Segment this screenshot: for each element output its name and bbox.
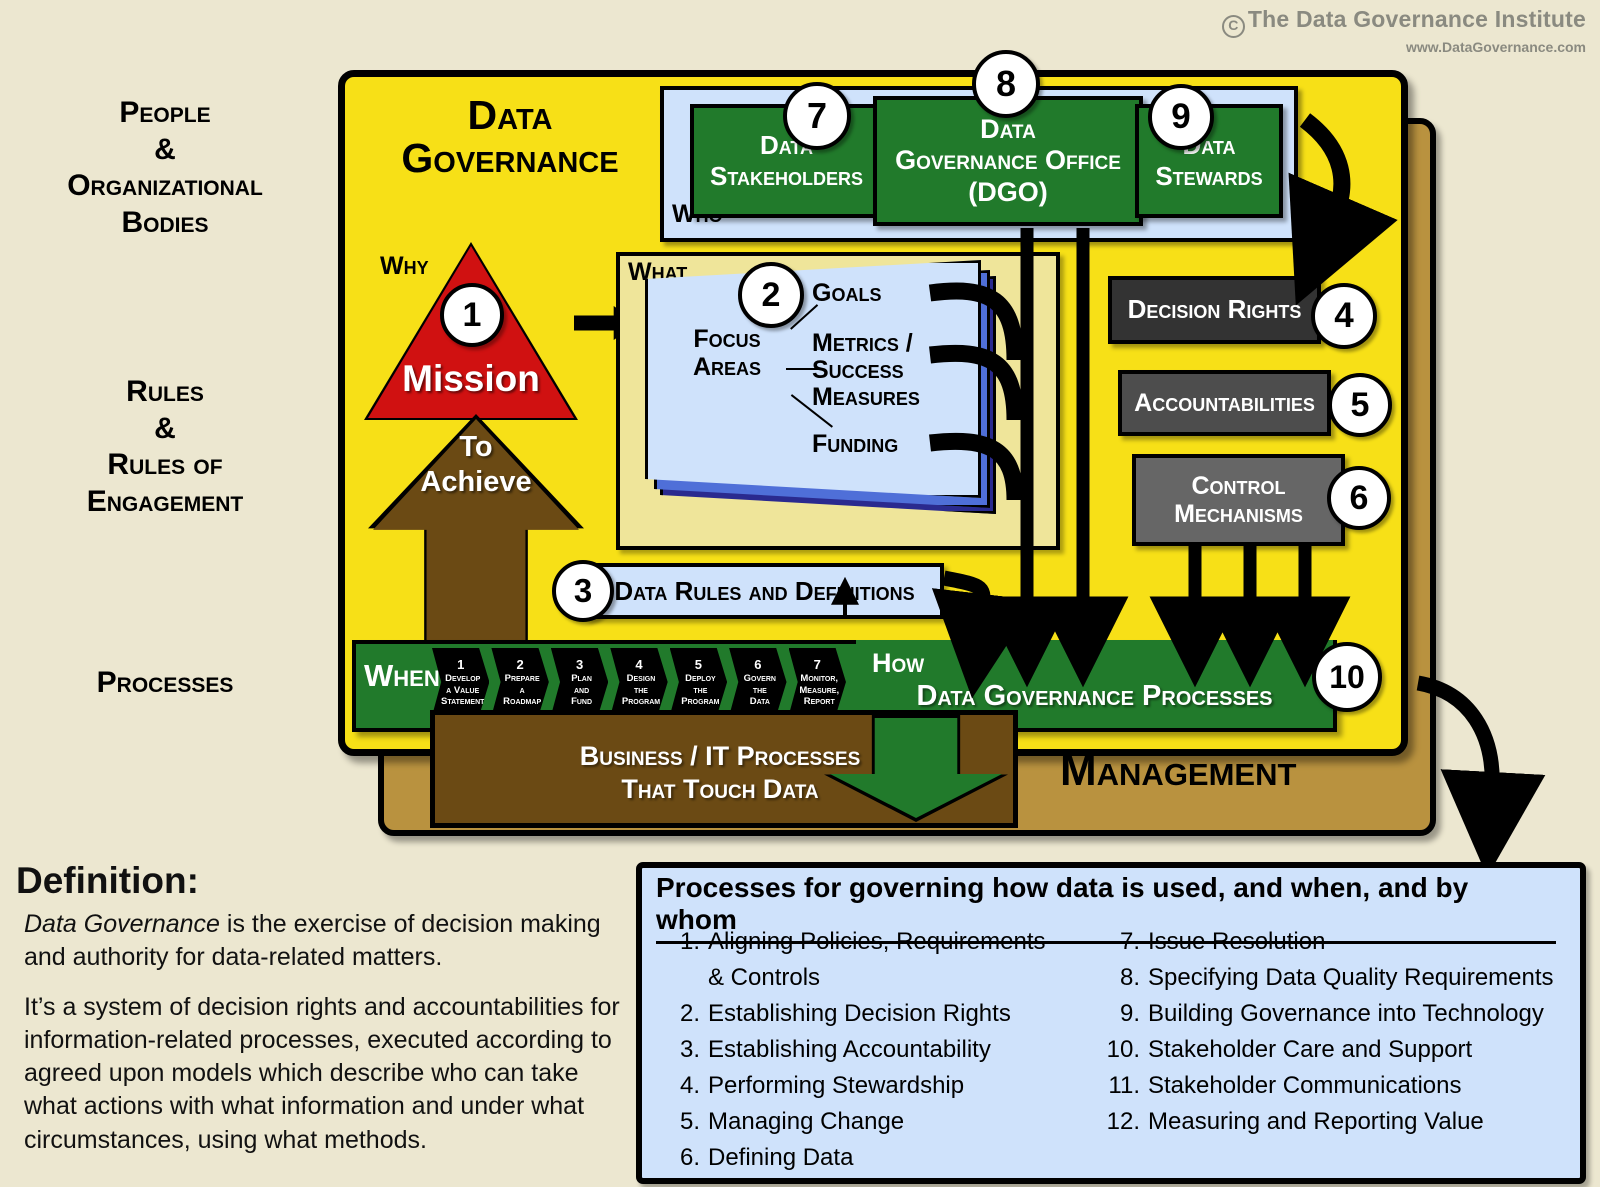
label-line: Processes xyxy=(0,665,330,702)
label-line: Engagement xyxy=(0,484,330,521)
box-label: Data Rules and Definitions xyxy=(614,576,914,607)
badge-10[interactable]: 10 xyxy=(1312,642,1382,712)
step-line: the xyxy=(625,685,653,696)
step-line: the xyxy=(684,685,712,696)
process-subtext: & Controls xyxy=(708,960,1080,996)
step-number: 7 xyxy=(814,657,821,672)
process-item: 5.Managing Change xyxy=(660,1104,1080,1140)
step-line: Fund xyxy=(562,696,597,707)
when-step-6[interactable]: 6GoverntheData xyxy=(729,648,786,716)
process-number: 8. xyxy=(1100,960,1140,996)
process-item: 11.Stakeholder Communications xyxy=(1100,1068,1570,1104)
label-processes: Processes xyxy=(0,665,330,702)
badge-2[interactable]: 2 xyxy=(738,262,804,328)
step-line: Govern xyxy=(735,673,781,684)
label-people-org-bodies: People & Organizational Bodies xyxy=(0,95,330,241)
when-step-2[interactable]: 2PrepareaRoadmap xyxy=(491,648,548,716)
box-line: Stewards xyxy=(1155,161,1262,191)
badge-8[interactable]: 8 xyxy=(972,50,1040,118)
data-governance-processes-label: Data Governance Processes xyxy=(856,680,1333,713)
step-line: the xyxy=(744,685,772,696)
when-label: When xyxy=(364,658,440,694)
badge-1[interactable]: 1 xyxy=(440,283,504,347)
when-steps-list: 1Developa ValueStatement2PrepareaRoadmap… xyxy=(432,648,848,716)
process-item: 12.Measuring and Reporting Value xyxy=(1100,1104,1570,1140)
box-line: Stakeholders xyxy=(710,161,863,191)
step-number: 3 xyxy=(576,657,583,672)
achieve-line: Achieve xyxy=(373,465,579,500)
process-text: Establishing Accountability xyxy=(708,1032,1080,1068)
when-step-3[interactable]: 3PlanandFund xyxy=(551,648,608,716)
badge-5[interactable]: 5 xyxy=(1328,373,1392,437)
step-line: and xyxy=(565,685,594,696)
process-number: 3. xyxy=(660,1032,700,1068)
processes-list-column-1: 1.Aligning Policies, Requirements& Contr… xyxy=(660,924,1080,1176)
badge-7[interactable]: 7 xyxy=(783,82,851,150)
process-number: 10. xyxy=(1100,1032,1140,1068)
copyright-icon: C xyxy=(1222,15,1245,38)
process-text: Building Governance into Technology xyxy=(1148,996,1570,1032)
box-decision-rights[interactable]: Decision Rights xyxy=(1108,276,1321,344)
when-step-5[interactable]: 5DeploytheProgram xyxy=(670,648,727,716)
box-data-rules-and-definitions[interactable]: Data Rules and Definitions xyxy=(585,563,944,619)
step-line: Plan xyxy=(562,673,597,684)
label-line: & xyxy=(0,411,330,448)
definition-body: Data Governance is the exercise of decis… xyxy=(24,908,634,1173)
process-number: 4. xyxy=(660,1068,700,1104)
badge-6[interactable]: 6 xyxy=(1327,466,1391,530)
focus-line: Focus xyxy=(672,325,782,353)
step-number: 6 xyxy=(754,657,761,672)
metrics-line: Success xyxy=(812,357,920,384)
achieve-line: To xyxy=(373,430,579,465)
box-label: Decision Rights xyxy=(1128,295,1302,324)
step-line: Roadmap xyxy=(494,696,546,707)
step-line: Program xyxy=(672,696,724,707)
process-text: Defining Data xyxy=(708,1140,1080,1176)
box-line: Data xyxy=(980,114,1036,144)
step-line: Program xyxy=(613,696,665,707)
copyright-block: CThe Data Governance Institute www.DataG… xyxy=(1222,6,1586,55)
box-line: Control xyxy=(1191,472,1285,500)
step-line: Measure, xyxy=(790,685,844,696)
process-item: 3.Establishing Accountability xyxy=(660,1032,1080,1068)
step-line: Statement xyxy=(432,696,489,707)
process-item: 1.Aligning Policies, Requirements xyxy=(660,924,1080,960)
copyright-line: CThe Data Governance Institute xyxy=(1222,6,1586,38)
box-line: (DGO) xyxy=(968,177,1047,207)
process-item: 10.Stakeholder Care and Support xyxy=(1100,1032,1570,1068)
badge-9[interactable]: 9 xyxy=(1148,84,1214,150)
process-number: 5. xyxy=(660,1104,700,1140)
label-line: Organizational xyxy=(0,168,330,205)
badge-4[interactable]: 4 xyxy=(1311,283,1377,349)
process-number: 11. xyxy=(1100,1068,1140,1104)
process-text: Establishing Decision Rights xyxy=(708,996,1080,1032)
step-line: Monitor, xyxy=(791,673,843,684)
step-line: a xyxy=(511,685,530,696)
process-item: 2.Establishing Decision Rights xyxy=(660,996,1080,1032)
label-line: Rules of xyxy=(0,447,330,484)
process-item: 7.Issue Resolution xyxy=(1100,924,1570,960)
metrics-success-measures-label: Metrics / Success Measures xyxy=(812,330,920,411)
leader-line-metrics xyxy=(786,368,820,370)
step-number: 2 xyxy=(517,657,524,672)
process-text: Measuring and Reporting Value xyxy=(1148,1104,1570,1140)
process-number: 6. xyxy=(660,1140,700,1176)
box-control-mechanisms[interactable]: ControlMechanisms xyxy=(1132,454,1345,546)
process-number: 1. xyxy=(660,924,700,960)
to-achieve-label: To Achieve xyxy=(373,430,579,501)
definition-term: Data Governance xyxy=(24,910,220,938)
funding-label: Funding xyxy=(812,430,898,459)
goals-label: Goals xyxy=(812,279,881,308)
process-text: Specifying Data Quality Requirements xyxy=(1148,960,1570,996)
process-item: 4.Performing Stewardship xyxy=(660,1068,1080,1104)
when-step-7[interactable]: 7Monitor,Measure,Report xyxy=(789,648,846,716)
label-rules-engagement: Rules & Rules of Engagement xyxy=(0,374,330,520)
step-number: 4 xyxy=(635,657,642,672)
process-item: 8.Specifying Data Quality Requirements xyxy=(1100,960,1570,996)
step-line: Develop xyxy=(436,673,485,684)
process-number: 2. xyxy=(660,996,700,1032)
process-number: 12. xyxy=(1100,1104,1140,1140)
definition-paragraph-2: It’s a system of decision rights and acc… xyxy=(24,991,634,1157)
badge-3[interactable]: 3 xyxy=(552,560,614,622)
process-text: Performing Stewardship xyxy=(708,1068,1080,1104)
processes-list-column-2: 7.Issue Resolution8.Specifying Data Qual… xyxy=(1100,924,1570,1140)
label-line: Rules xyxy=(0,374,330,411)
step-line: Prepare xyxy=(496,673,545,684)
definition-paragraph-1: Data Governance is the exercise of decis… xyxy=(24,908,634,975)
how-label: How xyxy=(872,648,924,679)
management-label: Management xyxy=(1060,746,1296,796)
process-text: Aligning Policies, Requirements xyxy=(708,924,1080,960)
institute-url: www.DataGovernance.com xyxy=(1222,39,1586,55)
process-text: Stakeholder Care and Support xyxy=(1148,1032,1570,1068)
label-line: & xyxy=(0,132,330,169)
process-item: 6.Defining Data xyxy=(660,1140,1080,1176)
box-label: Accountabilities xyxy=(1134,389,1315,417)
box-line: Mechanisms xyxy=(1174,500,1303,528)
when-step-1[interactable]: 1Developa ValueStatement xyxy=(432,648,489,716)
process-item: 9.Building Governance into Technology xyxy=(1100,996,1570,1032)
label-line: Bodies xyxy=(0,205,330,242)
focus-areas-label: Focus Areas xyxy=(672,325,782,381)
metrics-line: Measures xyxy=(812,384,920,411)
step-line: Data xyxy=(741,696,775,707)
process-number: 9. xyxy=(1100,996,1140,1032)
focus-line: Areas xyxy=(672,353,782,381)
step-line: Report xyxy=(795,696,840,707)
process-text: Managing Change xyxy=(708,1104,1080,1140)
institute-name: The Data Governance Institute xyxy=(1248,6,1586,32)
process-text: Stakeholder Communications xyxy=(1148,1068,1570,1104)
process-text: Issue Resolution xyxy=(1148,924,1570,960)
label-line: People xyxy=(0,95,330,132)
mission-label: Mission xyxy=(368,358,574,400)
page-title: Data Governance xyxy=(360,94,660,180)
box-accountabilities[interactable]: Accountabilities xyxy=(1118,370,1331,436)
step-line: Deploy xyxy=(676,673,721,684)
step-number: 1 xyxy=(457,657,464,672)
definition-title: Definition: xyxy=(16,860,199,902)
metrics-line: Metrics / xyxy=(812,330,920,357)
process-number: 7. xyxy=(1100,924,1140,960)
step-number: 5 xyxy=(695,657,702,672)
step-line: a Value xyxy=(437,685,484,696)
when-step-4[interactable]: 4DesigntheProgram xyxy=(610,648,667,716)
step-line: Design xyxy=(618,673,661,684)
why-label: Why xyxy=(380,252,429,281)
box-line: Governance Office xyxy=(895,145,1121,175)
